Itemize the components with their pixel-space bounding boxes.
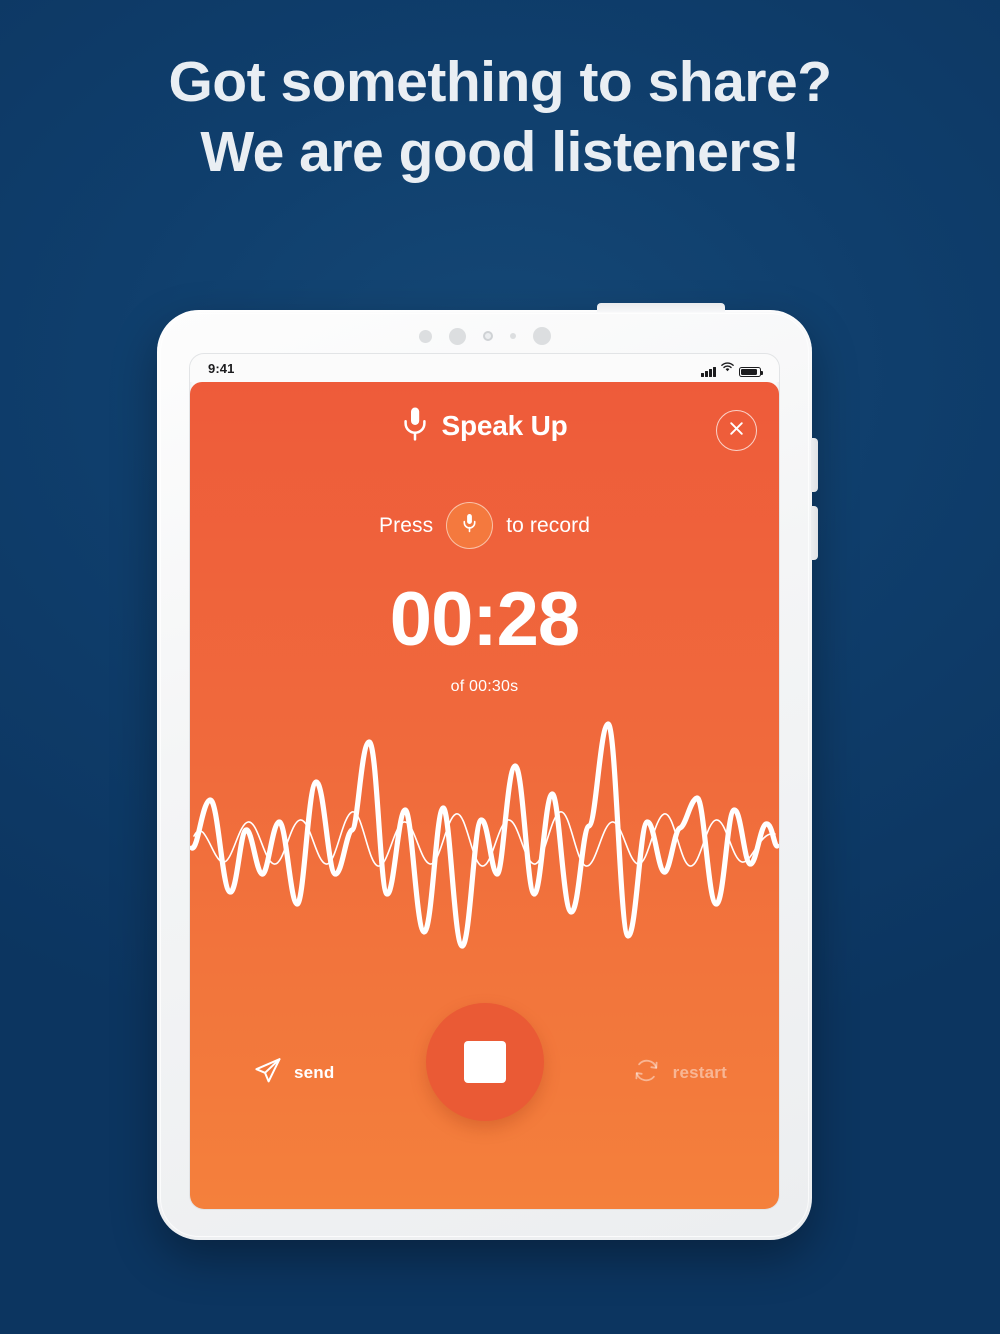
microphone-icon (463, 513, 476, 539)
recording-controls: send restart (190, 1003, 779, 1153)
camera-dot-icon (533, 327, 551, 345)
send-label: send (294, 1063, 334, 1083)
recording-timer-total: of 00:30s (190, 678, 779, 696)
speak-up-app: Speak Up Press (190, 382, 779, 1209)
audio-waveform (190, 712, 779, 962)
sensor-dot-icon (510, 333, 516, 339)
power-button[interactable] (597, 303, 725, 312)
microphone-icon (402, 406, 428, 447)
camera-dot-icon (449, 328, 466, 345)
prompt-prefix-label: Press (379, 514, 433, 538)
cellular-signal-icon (701, 367, 716, 377)
press-to-record-prompt: Press to record (190, 502, 779, 549)
battery-icon (739, 367, 761, 377)
tablet-screen: 9:41 (190, 354, 779, 1209)
stop-square-icon (464, 1041, 506, 1083)
camera-lens-dot-icon (483, 331, 493, 341)
page-headline: Got something to share? We are good list… (0, 48, 1000, 187)
status-bar-icons (701, 359, 761, 377)
tablet-device: 9:41 (157, 310, 812, 1240)
restart-circular-arrow-icon (631, 1055, 662, 1091)
app-title: Speak Up (442, 410, 568, 442)
waveform-primary-path (192, 724, 777, 946)
app-header: Speak Up (190, 382, 779, 470)
restart-button[interactable]: restart (631, 1055, 727, 1091)
recording-timer-elapsed: 00:28 (190, 582, 779, 658)
prompt-suffix-label: to record (506, 514, 590, 538)
headline-line-2: We are good listeners! (0, 118, 1000, 188)
close-icon (728, 420, 745, 442)
send-button[interactable]: send (252, 1055, 334, 1091)
stop-recording-button[interactable] (426, 1003, 544, 1121)
close-button[interactable] (716, 410, 757, 451)
status-bar-time: 9:41 (208, 361, 234, 376)
send-paper-plane-icon (252, 1055, 283, 1091)
status-bar: 9:41 (190, 354, 779, 382)
volume-down-button[interactable] (811, 506, 818, 560)
headline-line-1: Got something to share? (168, 50, 831, 114)
front-sensor-array (157, 326, 812, 346)
restart-label: restart (673, 1063, 727, 1083)
wifi-icon (721, 359, 734, 377)
volume-up-button[interactable] (811, 438, 818, 492)
camera-dot-icon (419, 330, 432, 343)
record-mic-button[interactable] (446, 502, 493, 549)
